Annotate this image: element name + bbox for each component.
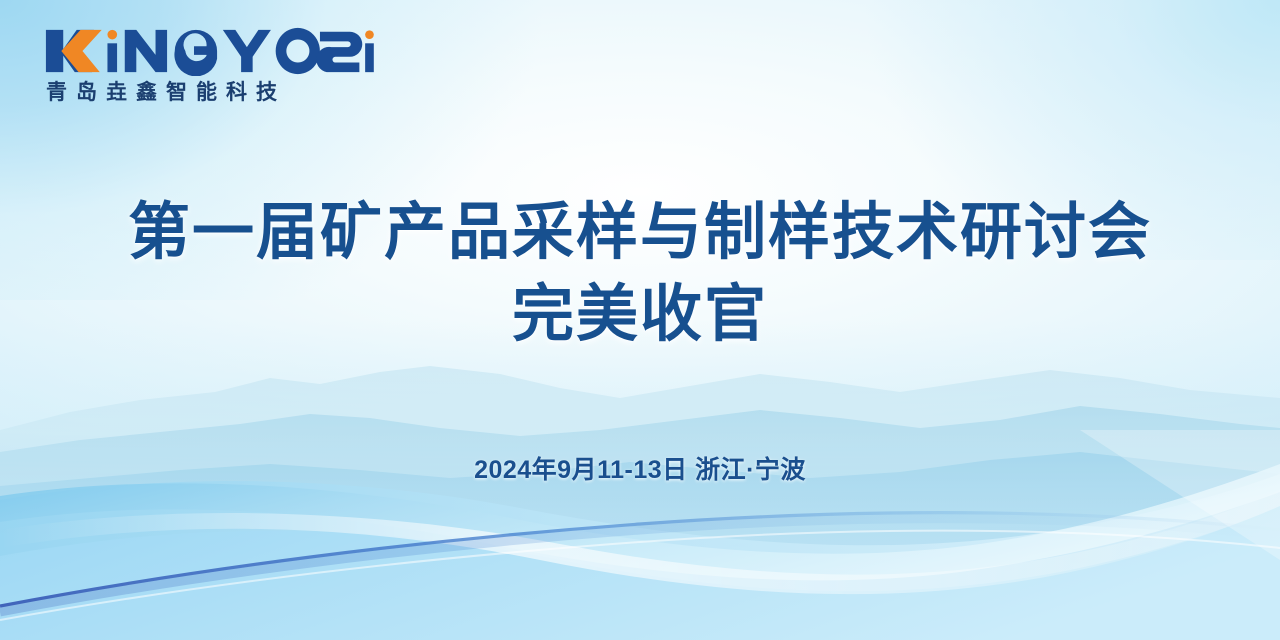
headline-block: 第一届矿产品采样与制样技术研讨会 完美收官 — [0, 192, 1280, 357]
event-date-location: 2024年9月11-13日 浙江·宁波 — [0, 450, 1280, 486]
double-chevron-k-icon — [46, 30, 102, 72]
company-logo: 青岛垚鑫智能科技 — [44, 26, 394, 104]
poster-canvas: 青岛垚鑫智能科技 第一届矿产品采样与制样技术研讨会 完美收官 2024年9月11… — [0, 0, 1280, 640]
headline-line-2: 完美收官 — [0, 274, 1280, 356]
headline-line-1: 第一届矿产品采样与制样技术研讨会 — [0, 192, 1280, 274]
logo-letters — [107, 28, 373, 76]
logo-wordmark-icon — [44, 26, 382, 76]
logo-chinese-name: 青岛垚鑫智能科技 — [44, 81, 394, 104]
